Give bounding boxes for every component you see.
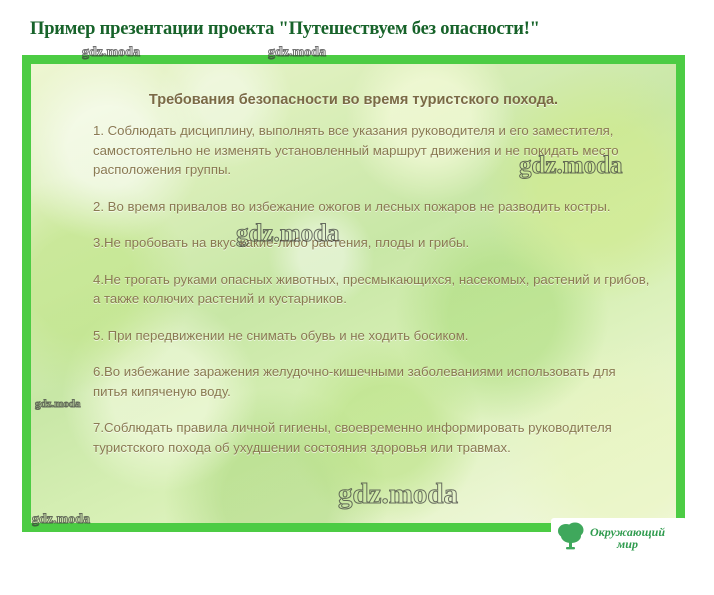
- brand-line-2: мир: [590, 538, 665, 551]
- slide-content-area: Требования безопасности во время туристс…: [31, 64, 676, 523]
- safety-requirements-list: 1. Соблюдать дисциплину, выполнять все у…: [93, 121, 653, 474]
- list-item: 3.Не пробовать на вкус какие-либо растен…: [93, 233, 653, 253]
- list-item: 1. Соблюдать дисциплину, выполнять все у…: [93, 121, 653, 180]
- list-item: 5. При передвижении не снимать обувь и н…: [93, 326, 653, 346]
- brand-logo: Окружающий мир: [551, 518, 687, 558]
- slide-heading: Требования безопасности во время туристс…: [31, 92, 676, 108]
- list-item: 7.Соблюдать правила личной гигиены, свое…: [93, 418, 653, 457]
- tree-icon: [557, 521, 585, 556]
- list-item: 6.Во избежание заражения желудочно-кишеч…: [93, 362, 653, 401]
- list-item: 2. Во время привалов во избежание ожогов…: [93, 197, 653, 217]
- brand-name: Окружающий мир: [590, 526, 665, 551]
- presentation-slide: Требования безопасности во время туристс…: [22, 55, 685, 532]
- page-title: Пример презентации проекта "Путешествуем…: [30, 19, 690, 40]
- list-item: 4.Не трогать руками опасных животных, пр…: [93, 270, 653, 309]
